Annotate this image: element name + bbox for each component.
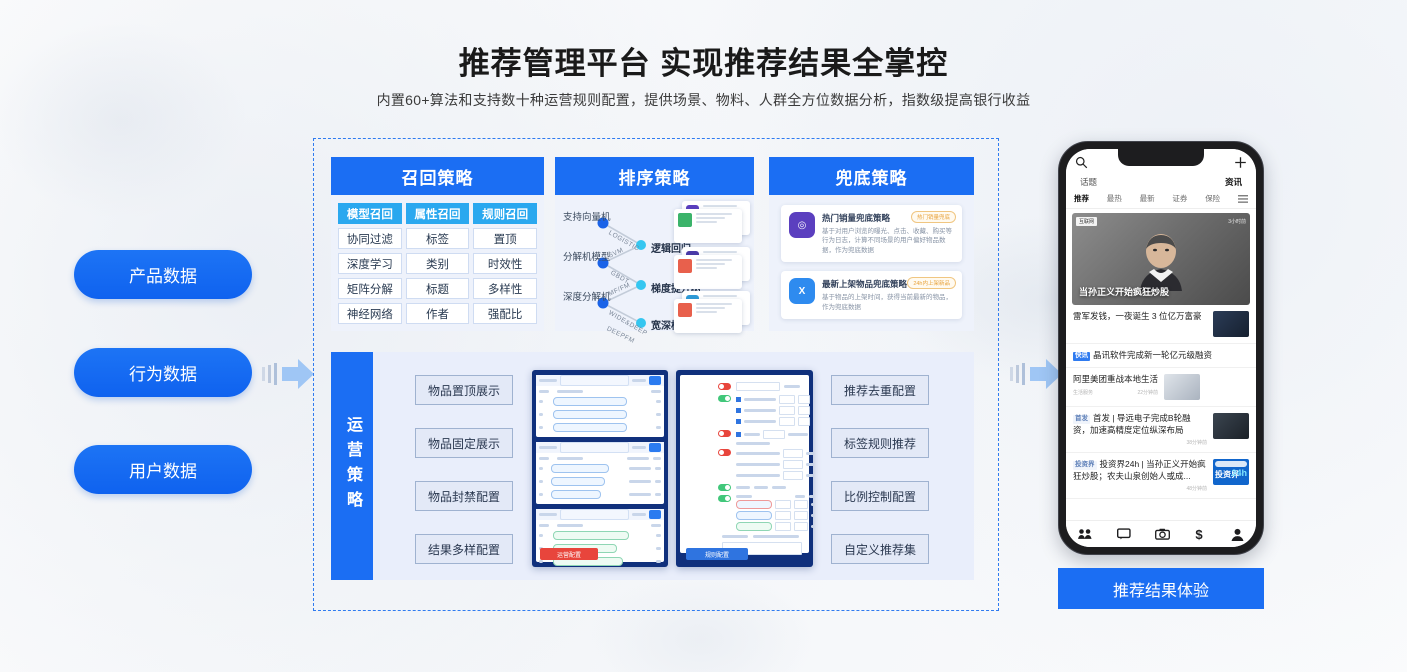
phone-notch xyxy=(1118,149,1204,166)
rank-preview-cards xyxy=(674,199,752,327)
page-subtitle: 内置60+算法和支持数十种运营规则配置，提供场景、物料、人群全方位数据分析，指数… xyxy=(0,90,1407,110)
recall-grid: 模型召回 属性召回 规则召回 协同过滤 标签 置顶 深度学习 类别 时效性 矩阵… xyxy=(331,195,544,332)
search-icon[interactable] xyxy=(1075,156,1088,169)
promo-card: 投资界 24h xyxy=(1213,459,1249,485)
op-button-ratio[interactable]: 比例控制配置 xyxy=(831,481,929,511)
screenshot-operations-config: 运营配置 xyxy=(532,370,668,567)
op-button-dedup[interactable]: 推荐去重配置 xyxy=(831,375,929,405)
recall-cell[interactable]: 协同过滤 xyxy=(338,228,402,249)
recall-cell[interactable]: 标签 xyxy=(406,228,470,249)
panel-title: 兜底策略 xyxy=(769,157,974,195)
panel-recall-strategy: 召回策略 模型召回 属性召回 规则召回 协同过滤 标签 置顶 深度学习 类别 时… xyxy=(331,157,544,331)
phone-tab-securities[interactable]: 证券 xyxy=(1172,193,1187,204)
news-meta-time: 48分钟前 xyxy=(1186,485,1207,492)
news-title: 阿里美团重战本地生活 xyxy=(1073,374,1158,385)
plus-icon[interactable] xyxy=(1234,156,1247,169)
news-meta-time: 22分钟前 xyxy=(1137,389,1158,396)
recall-cell[interactable]: 时效性 xyxy=(473,253,537,274)
rank-input-label: 支持向量机 xyxy=(563,209,611,223)
news-list-item[interactable]: 快讯晶讯软件完成新一轮亿元级融资 xyxy=(1066,344,1256,368)
svg-text:$: $ xyxy=(1195,527,1203,541)
news-list-item[interactable]: 首发首发 | 导远电子完成B轮融资，加速高精度定位纵深布局 38分钟前 xyxy=(1066,407,1256,453)
news-title: 雷军发钱，一夜诞生 3 位亿万富豪 xyxy=(1073,311,1207,322)
hero-headline: 当孙正义开始疯狂炒股 xyxy=(1079,285,1169,298)
hero-time: 3小时前 xyxy=(1228,218,1246,225)
recall-cell[interactable]: 矩阵分解 xyxy=(338,278,402,299)
phone-tab-insurance[interactable]: 保险 xyxy=(1205,193,1220,204)
data-pill-product[interactable]: 产品数据 xyxy=(74,250,252,299)
camera-icon[interactable] xyxy=(1155,528,1170,540)
recall-cell[interactable]: 深度学习 xyxy=(338,253,402,274)
pill-label: 行为数据 xyxy=(129,360,197,385)
news-tag: 快讯 xyxy=(1073,352,1090,361)
menu-icon[interactable] xyxy=(1238,195,1248,203)
recall-cell[interactable]: 类别 xyxy=(406,253,470,274)
operations-side-label: 运营策略 xyxy=(331,352,373,580)
news-meta-time: 38分钟前 xyxy=(1186,439,1207,446)
news-thumbnail xyxy=(1213,413,1249,439)
news-thumbnail xyxy=(1213,311,1249,337)
fallback-card[interactable]: ◎ 热门销量兜底策略 基于对用户浏览的曝光、点击、收藏、购买等行为日志，计算不同… xyxy=(781,205,962,262)
news-tag: 首发 xyxy=(1073,415,1090,424)
calendar-icon: X xyxy=(789,278,815,304)
op-button-diversity[interactable]: 结果多样配置 xyxy=(415,534,513,564)
phone-tab-new[interactable]: 最新 xyxy=(1140,193,1155,204)
pill-label: 用户数据 xyxy=(129,457,197,482)
phone-mockup: 话题 资讯 推荐 最热 最新 证券 保险 互联网 3小时前 当孙正义开始疯狂炒股 xyxy=(1058,141,1264,555)
compass-icon: ◎ xyxy=(789,212,815,238)
news-thumbnail xyxy=(1164,374,1200,400)
phone-section-titles: 话题 资讯 xyxy=(1066,175,1256,190)
op-button-tag-rule[interactable]: 标签规则推荐 xyxy=(831,428,929,458)
phone-title-topic[interactable]: 话题 xyxy=(1080,176,1097,188)
phone-tab-bar: 推荐 最热 最新 证券 保险 xyxy=(1066,190,1256,209)
status-badge: 热门销量兜底 xyxy=(911,211,956,223)
phone-hero-article[interactable]: 互联网 3小时前 当孙正义开始疯狂炒股 xyxy=(1072,213,1250,305)
pill-label: 产品数据 xyxy=(129,262,197,287)
news-list-item[interactable]: 阿里美团重战本地生活 生活服务22分钟前 xyxy=(1066,368,1256,407)
panel-title: 排序策略 xyxy=(555,157,754,195)
panel-rank-strategy: 排序策略 支持向量机 分解机模型 深度分解机 逻辑回归 梯度提升树 宽深模型 L… xyxy=(555,157,754,331)
hero-category-badge: 互联网 xyxy=(1076,217,1097,226)
panel-title: 召回策略 xyxy=(331,157,544,195)
screenshot-rules-config: 规则配置 xyxy=(676,370,813,567)
op-button-fixed-item[interactable]: 物品固定展示 xyxy=(415,428,513,458)
phone-tab-hot[interactable]: 最热 xyxy=(1107,193,1122,204)
chat-icon[interactable] xyxy=(1117,528,1131,540)
rank-input-label: 分解机模型 xyxy=(563,249,611,263)
data-pill-behavior[interactable]: 行为数据 xyxy=(74,348,252,397)
fallback-card[interactable]: X 最新上架物品兜底策略 基于物品的上架时间，获得当前最新的物品，作为兜底数据 … xyxy=(781,271,962,319)
recall-cell[interactable]: 置顶 xyxy=(473,228,537,249)
status-badge: 24h内上架新品 xyxy=(907,277,956,289)
fallback-card-desc: 基于物品的上架时间，获得当前最新的物品，作为兜底数据 xyxy=(822,293,954,312)
recall-cell[interactable]: 强配比 xyxy=(473,303,537,324)
people-icon[interactable] xyxy=(1078,528,1092,540)
operations-side-label-text: 运营策略 xyxy=(340,416,364,516)
news-list-item[interactable]: 投资界投资界24h | 当孙正义开始疯狂炒股；农夫山泉创始人或成... 48分钟… xyxy=(1066,453,1256,499)
recall-cell[interactable]: 规则召回 xyxy=(473,203,537,224)
rank-input-label: 深度分解机 xyxy=(563,289,611,303)
recall-cell[interactable]: 作者 xyxy=(406,303,470,324)
recall-cell[interactable]: 模型召回 xyxy=(338,203,402,224)
experience-button[interactable]: 推荐结果体验 xyxy=(1058,568,1264,609)
recall-cell[interactable]: 标题 xyxy=(406,278,470,299)
news-list-item[interactable]: 雷军发钱，一夜诞生 3 位亿万富豪 xyxy=(1066,305,1256,344)
page-title: 推荐管理平台 实现推荐结果全掌控 xyxy=(0,38,1407,83)
profile-icon[interactable] xyxy=(1231,528,1244,541)
dollar-icon[interactable]: $ xyxy=(1195,527,1206,541)
panel-fallback-strategy: 兜底策略 ◎ 热门销量兜底策略 基于对用户浏览的曝光、点击、收藏、购买等行为日志… xyxy=(769,157,974,331)
news-tag: 投资界 xyxy=(1073,461,1097,470)
op-button-ban-item[interactable]: 物品封禁配置 xyxy=(415,481,513,511)
phone-title-news[interactable]: 资讯 xyxy=(1225,176,1242,188)
fallback-card-list: ◎ 热门销量兜底策略 基于对用户浏览的曝光、点击、收藏、购买等行为日志，计算不同… xyxy=(769,195,974,338)
portrait-image xyxy=(1134,229,1188,291)
fallback-card-desc: 基于对用户浏览的曝光、点击、收藏、购买等行为日志，计算不同场景的用户偏好物品数据… xyxy=(822,227,954,255)
phone-tab-recommend[interactable]: 推荐 xyxy=(1074,193,1089,204)
op-button-custom-set[interactable]: 自定义推荐集 xyxy=(831,534,929,564)
news-title: 晶讯软件完成新一轮亿元级融资 xyxy=(1093,350,1212,360)
data-pill-user[interactable]: 用户数据 xyxy=(74,445,252,494)
submit-rules-button[interactable]: 规则配置 xyxy=(686,548,748,560)
promo-number: 24h xyxy=(1231,468,1247,478)
recall-cell[interactable]: 属性召回 xyxy=(406,203,470,224)
submit-operations-button[interactable]: 运营配置 xyxy=(540,548,598,560)
recall-cell[interactable]: 神经网络 xyxy=(338,303,402,324)
news-title: 首发 | 导远电子完成B轮融资，加速高精度定位纵深布局 xyxy=(1073,413,1191,434)
phone-bottom-nav: $ xyxy=(1066,520,1256,547)
recall-cell[interactable]: 多样性 xyxy=(473,278,537,299)
op-button-pin-item[interactable]: 物品置顶展示 xyxy=(415,375,513,405)
news-meta-source: 生活服务 xyxy=(1073,389,1093,396)
rank-diagram: 支持向量机 分解机模型 深度分解机 逻辑回归 梯度提升树 宽深模型 LOGIST… xyxy=(555,195,754,331)
